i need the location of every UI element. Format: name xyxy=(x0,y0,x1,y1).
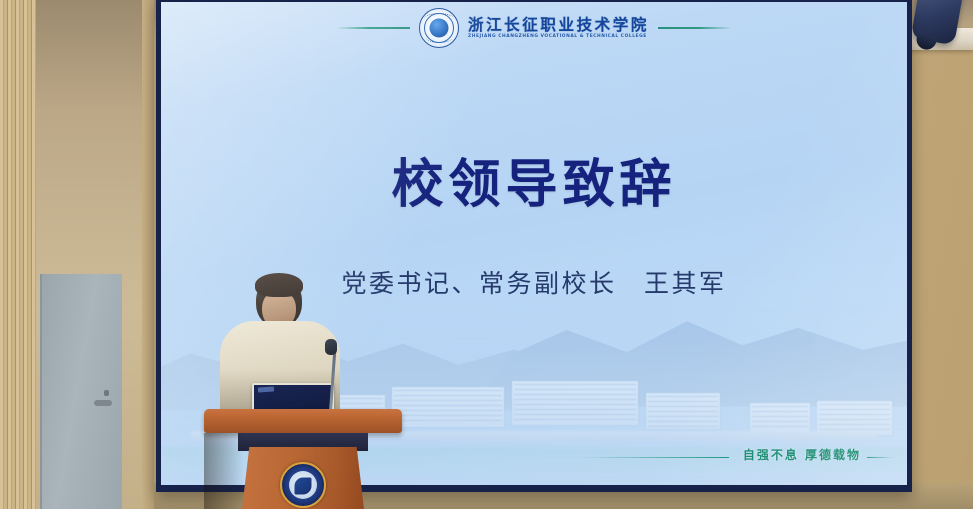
motto-rule-right-icon xyxy=(867,457,893,459)
wall-trim xyxy=(142,0,154,509)
door-lock-icon xyxy=(104,390,109,396)
speaker-and-podium xyxy=(198,269,408,509)
slide-header: 浙江长征职业技术学院 ZHEJIANG CHANGZHENG VOCATIONA… xyxy=(161,8,907,48)
motto-rule-left-icon xyxy=(579,457,729,459)
school-emblem-icon xyxy=(280,462,326,508)
school-name-cn: 浙江长征职业技术学院 xyxy=(468,17,649,33)
green-rule-left-icon xyxy=(336,27,410,29)
slide-title: 校领导致辞 xyxy=(161,142,907,217)
side-door[interactable] xyxy=(40,274,122,509)
campus-building xyxy=(817,401,892,435)
campus-building xyxy=(750,403,810,433)
podium-side-shadow xyxy=(204,433,244,509)
podium-desktop xyxy=(204,409,402,433)
green-rule-right-icon xyxy=(658,27,732,29)
presenter-hair xyxy=(255,273,303,297)
screenshot-scene: 浙江长征职业技术学院 ZHEJIANG CHANGZHENG VOCATIONA… xyxy=(0,0,973,509)
wood-slat-panel xyxy=(0,0,36,509)
gooseneck-microphone-icon xyxy=(325,339,337,355)
school-name-en: ZHEJIANG CHANGZHENG VOCATIONAL & TECHNIC… xyxy=(468,34,647,39)
school-name-block: 浙江长征职业技术学院 ZHEJIANG CHANGZHENG VOCATIONA… xyxy=(468,17,649,39)
campus-building xyxy=(512,381,639,425)
campus-building xyxy=(646,393,721,429)
school-motto: 自强不息 厚德载物 xyxy=(743,446,861,463)
door-handle-icon[interactable] xyxy=(94,400,112,406)
campus-building xyxy=(392,387,504,427)
school-crest-icon xyxy=(419,8,459,48)
